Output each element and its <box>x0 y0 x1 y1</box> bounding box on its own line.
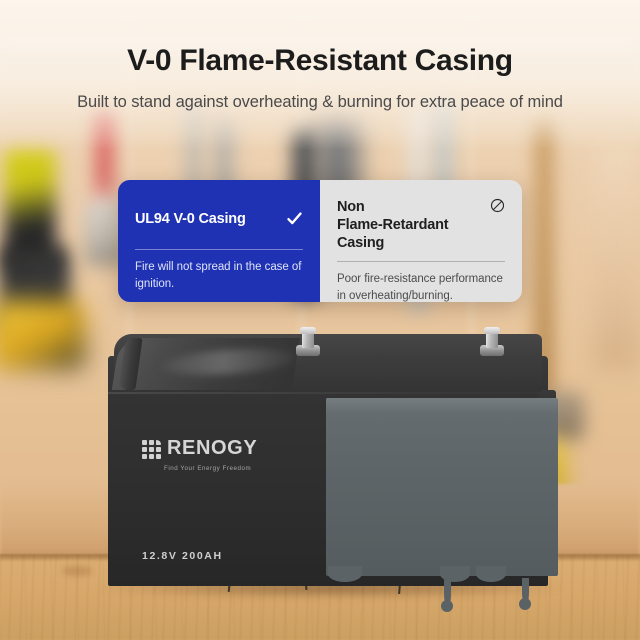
logo-cell <box>149 440 154 445</box>
logo-cell <box>142 440 147 445</box>
battery-lid <box>114 334 542 392</box>
case-seam <box>108 392 548 394</box>
terminal-cap <box>300 327 316 334</box>
product-marketing-image: RENOGY Find Your Energy Freedom 12.8V 20… <box>0 0 640 640</box>
page-title: V-0 Flame-Resistant Casing <box>0 0 640 77</box>
logo-cell <box>156 447 161 452</box>
battery-terminal-positive <box>296 330 320 356</box>
bad-panel-title-line2: Flame-Retardant Casing <box>337 217 448 251</box>
battery-terminal-negative <box>480 330 504 356</box>
terminal-cap <box>484 327 500 334</box>
logo-cell <box>156 454 161 459</box>
good-head-row: UL94 V-0 Casing <box>135 198 303 240</box>
wood-knot <box>62 566 92 576</box>
comparison-panel-bad: NonFlame-Retardant Casing Poor fire-resi… <box>320 180 522 302</box>
good-divider <box>135 249 303 250</box>
logo-cell <box>149 454 154 459</box>
comparison-panel-good: UL94 V-0 Casing Fire will not spread in … <box>118 180 320 302</box>
tool-yellow-coil <box>0 300 86 370</box>
bad-head-row: NonFlame-Retardant Casing <box>337 198 505 252</box>
tool-right-blur <box>594 140 640 370</box>
renogy-logo-mark <box>142 440 161 459</box>
melt-lobe <box>476 566 506 582</box>
melted-casing-overlay <box>326 398 558 586</box>
page-subtitle: Built to stand against overheating & bur… <box>0 77 640 112</box>
brand-tagline: Find Your Energy Freedom <box>164 466 251 472</box>
melt-drip-bead <box>441 600 453 612</box>
battery-spec-label: 12.8V 200AH <box>142 550 223 562</box>
good-panel-title: UL94 V-0 Casing <box>135 198 246 228</box>
renogy-battery: RENOGY Find Your Energy Freedom 12.8V 20… <box>108 334 548 586</box>
check-icon <box>286 198 303 232</box>
comparison-card: UL94 V-0 Casing Fire will not spread in … <box>118 180 522 302</box>
logo-cell <box>142 454 147 459</box>
bad-panel-description: Poor fire-resistance performance in over… <box>337 271 505 302</box>
melted-top-shade <box>326 398 558 414</box>
melted-slab <box>326 398 558 576</box>
good-panel-description: Fire will not spread in the case of igni… <box>135 259 303 292</box>
bad-panel-title-line1: Non <box>337 199 365 215</box>
bad-divider <box>337 261 505 262</box>
renogy-logo: RENOGY <box>142 438 257 459</box>
melt-lobe <box>328 566 362 582</box>
prohibition-icon <box>490 198 505 218</box>
bad-panel-title: NonFlame-Retardant Casing <box>337 198 482 252</box>
brand-name: RENOGY <box>167 437 257 459</box>
renogy-logo-text: RENOGY <box>167 438 257 459</box>
header-banner: V-0 Flame-Resistant Casing Built to stan… <box>0 0 640 150</box>
logo-cell <box>142 447 147 452</box>
logo-cell <box>156 440 161 445</box>
melt-drip-bead <box>519 598 531 610</box>
logo-cell <box>149 447 154 452</box>
